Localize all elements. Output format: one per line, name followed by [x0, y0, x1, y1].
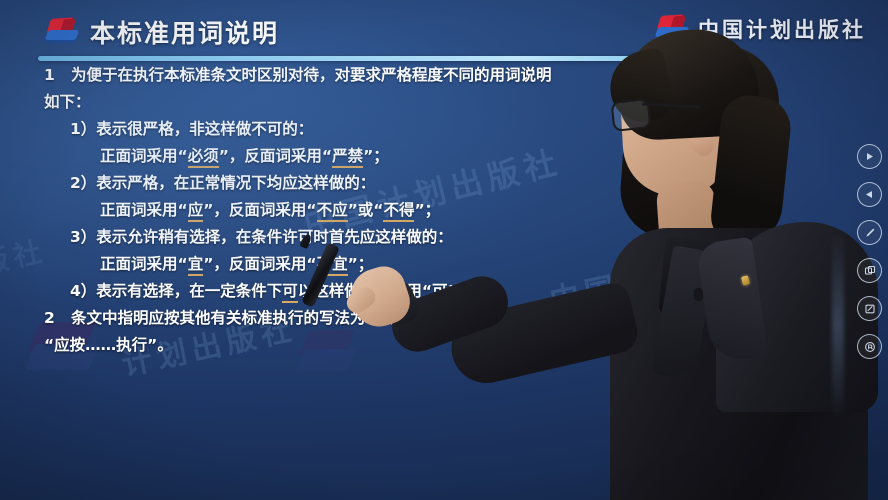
- slide-body-line: 2 条文中指明应按其他有关标准执行的写法为：“应符合……的规定”或: [44, 305, 684, 332]
- slide-header: 本标准用词说明: [46, 14, 279, 50]
- emphasised-term: 不宜: [317, 255, 348, 276]
- emphasised-term: 必须: [188, 147, 219, 168]
- watermark-text: 版社: [0, 230, 50, 283]
- screenshot-icon[interactable]: [857, 258, 882, 283]
- lecture-video-frame: 中国计划出版社 出版社 中国计划出 计划出版社 中国计划 版社 本标准用词说明 …: [0, 0, 888, 500]
- book-stack-icon: [46, 18, 78, 46]
- slide-body-line: 2）表示严格，在正常情况下均应这样做的：: [44, 170, 684, 197]
- emphasised-term: 应: [188, 201, 204, 222]
- slide-body-line: 如下：: [44, 89, 684, 116]
- publisher-logo: 中国计划出版社: [656, 14, 866, 44]
- slide-body-line: 1 为便于在执行本标准条文时区别对待，对要求严格程度不同的用词说明: [44, 62, 684, 89]
- emphasised-term: 可: [282, 282, 298, 303]
- lapel-pin: [741, 275, 750, 285]
- emphasised-term: 不应: [317, 201, 348, 222]
- note-icon[interactable]: [857, 296, 882, 321]
- right-toolbar[interactable]: [857, 144, 882, 359]
- play-back-icon[interactable]: [857, 182, 882, 207]
- emphasised-term: 严禁: [332, 147, 363, 168]
- slide-body-line: “应按……执行”。: [44, 332, 684, 359]
- play-icon[interactable]: [857, 144, 882, 169]
- brand-mark-icon[interactable]: [857, 334, 882, 359]
- emphasised-term: 宜: [188, 255, 204, 276]
- book-stack-icon: [656, 15, 688, 43]
- publisher-name: 中国计划出版社: [698, 14, 866, 44]
- emphasised-term: 可: [432, 282, 448, 303]
- slide-body-line: 1）表示很严格，非这样做不可的：: [44, 116, 684, 143]
- slide-body-line: 4）表示有选择，在一定条件下可以这样做的，采用“可”。: [44, 278, 684, 305]
- pen-icon[interactable]: [857, 220, 882, 245]
- slide-body-line: 正面词采用“应”，反面词采用“不应”或“不得”；: [44, 197, 684, 224]
- emphasised-term: 不得: [383, 201, 414, 222]
- lavalier-mic: [694, 288, 703, 301]
- slide-body-line: 3）表示允许稍有选择，在条件许可时首先应这样做的：: [44, 224, 684, 251]
- page-title: 本标准用词说明: [90, 14, 279, 50]
- title-divider: [38, 56, 646, 61]
- slide-body-line: 正面词采用“宜”，反面词采用“不宜”；: [44, 251, 684, 278]
- slide-body: 1 为便于在执行本标准条文时区别对待，对要求严格程度不同的用词说明如下：1）表示…: [44, 62, 684, 359]
- slide-body-line: 正面词采用“必须”，反面词采用“严禁”；: [44, 143, 684, 170]
